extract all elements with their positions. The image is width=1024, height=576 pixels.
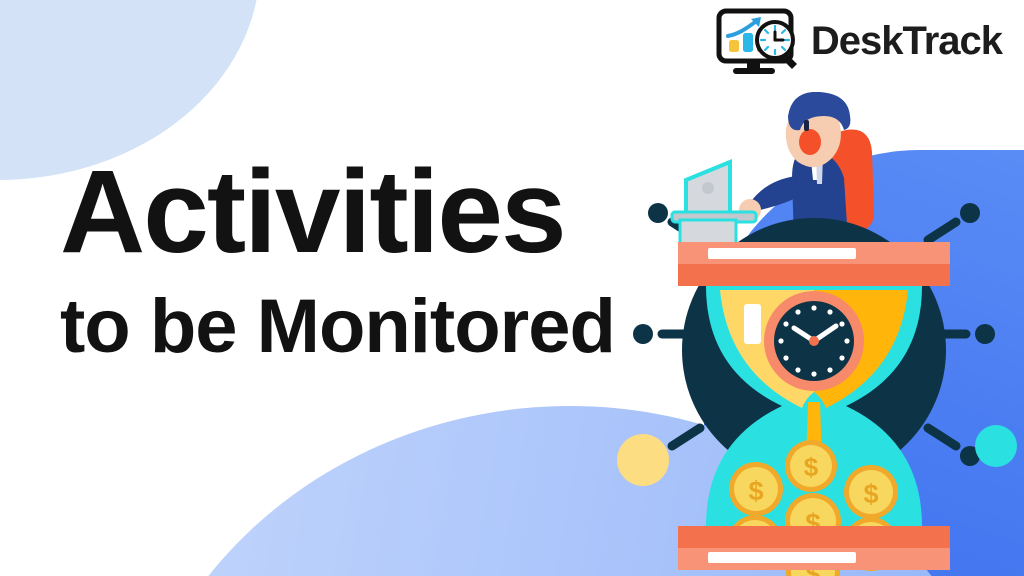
coin: $: [844, 465, 898, 519]
ray-dash-right-bottom: [928, 428, 956, 446]
ray-dot-left-mid: [633, 324, 653, 344]
hourglass-clock: [764, 291, 864, 391]
coin: $: [785, 440, 837, 492]
ray-dot-right-mid: [975, 324, 995, 344]
page-subtitle: to be Monitored: [60, 289, 615, 365]
desktrack-logo[interactable]: DeskTrack: [713, 6, 1002, 80]
svg-text:$: $: [748, 476, 763, 506]
ray-dash-left-bottom: [672, 428, 700, 446]
person-mouth: [799, 129, 821, 155]
ray-dash-right-top: [928, 222, 956, 240]
page-title: Activities: [60, 158, 615, 267]
headline-block: Activities to be Monitored: [60, 158, 615, 365]
laptop-logo: [702, 182, 714, 194]
yellow-accent-circle: [617, 434, 669, 486]
slide-canvas: Activities to be Monitored: [0, 0, 1024, 576]
monitor-chart-magnifier-clock-icon: [713, 6, 809, 80]
hourglass-glass-highlight: [744, 304, 761, 344]
ray-dot-right-top: [960, 203, 980, 223]
clock-center-dot: [809, 336, 819, 346]
hourglass-illustration: $ $ $ $: [628, 92, 1024, 576]
top-cap-edge: [678, 264, 950, 286]
top-cap-highlight: [708, 248, 856, 259]
svg-text:$: $: [863, 479, 878, 509]
coin: $: [729, 462, 783, 516]
logo-wordmark: DeskTrack: [811, 21, 1002, 65]
ray-dot-left-top: [648, 203, 668, 223]
person-eye: [804, 120, 809, 131]
hourglass-bottom-cap: [678, 526, 950, 570]
bottom-cap-highlight: [708, 552, 856, 563]
cyan-accent-circle: [975, 425, 1017, 467]
svg-text:$: $: [804, 452, 819, 482]
